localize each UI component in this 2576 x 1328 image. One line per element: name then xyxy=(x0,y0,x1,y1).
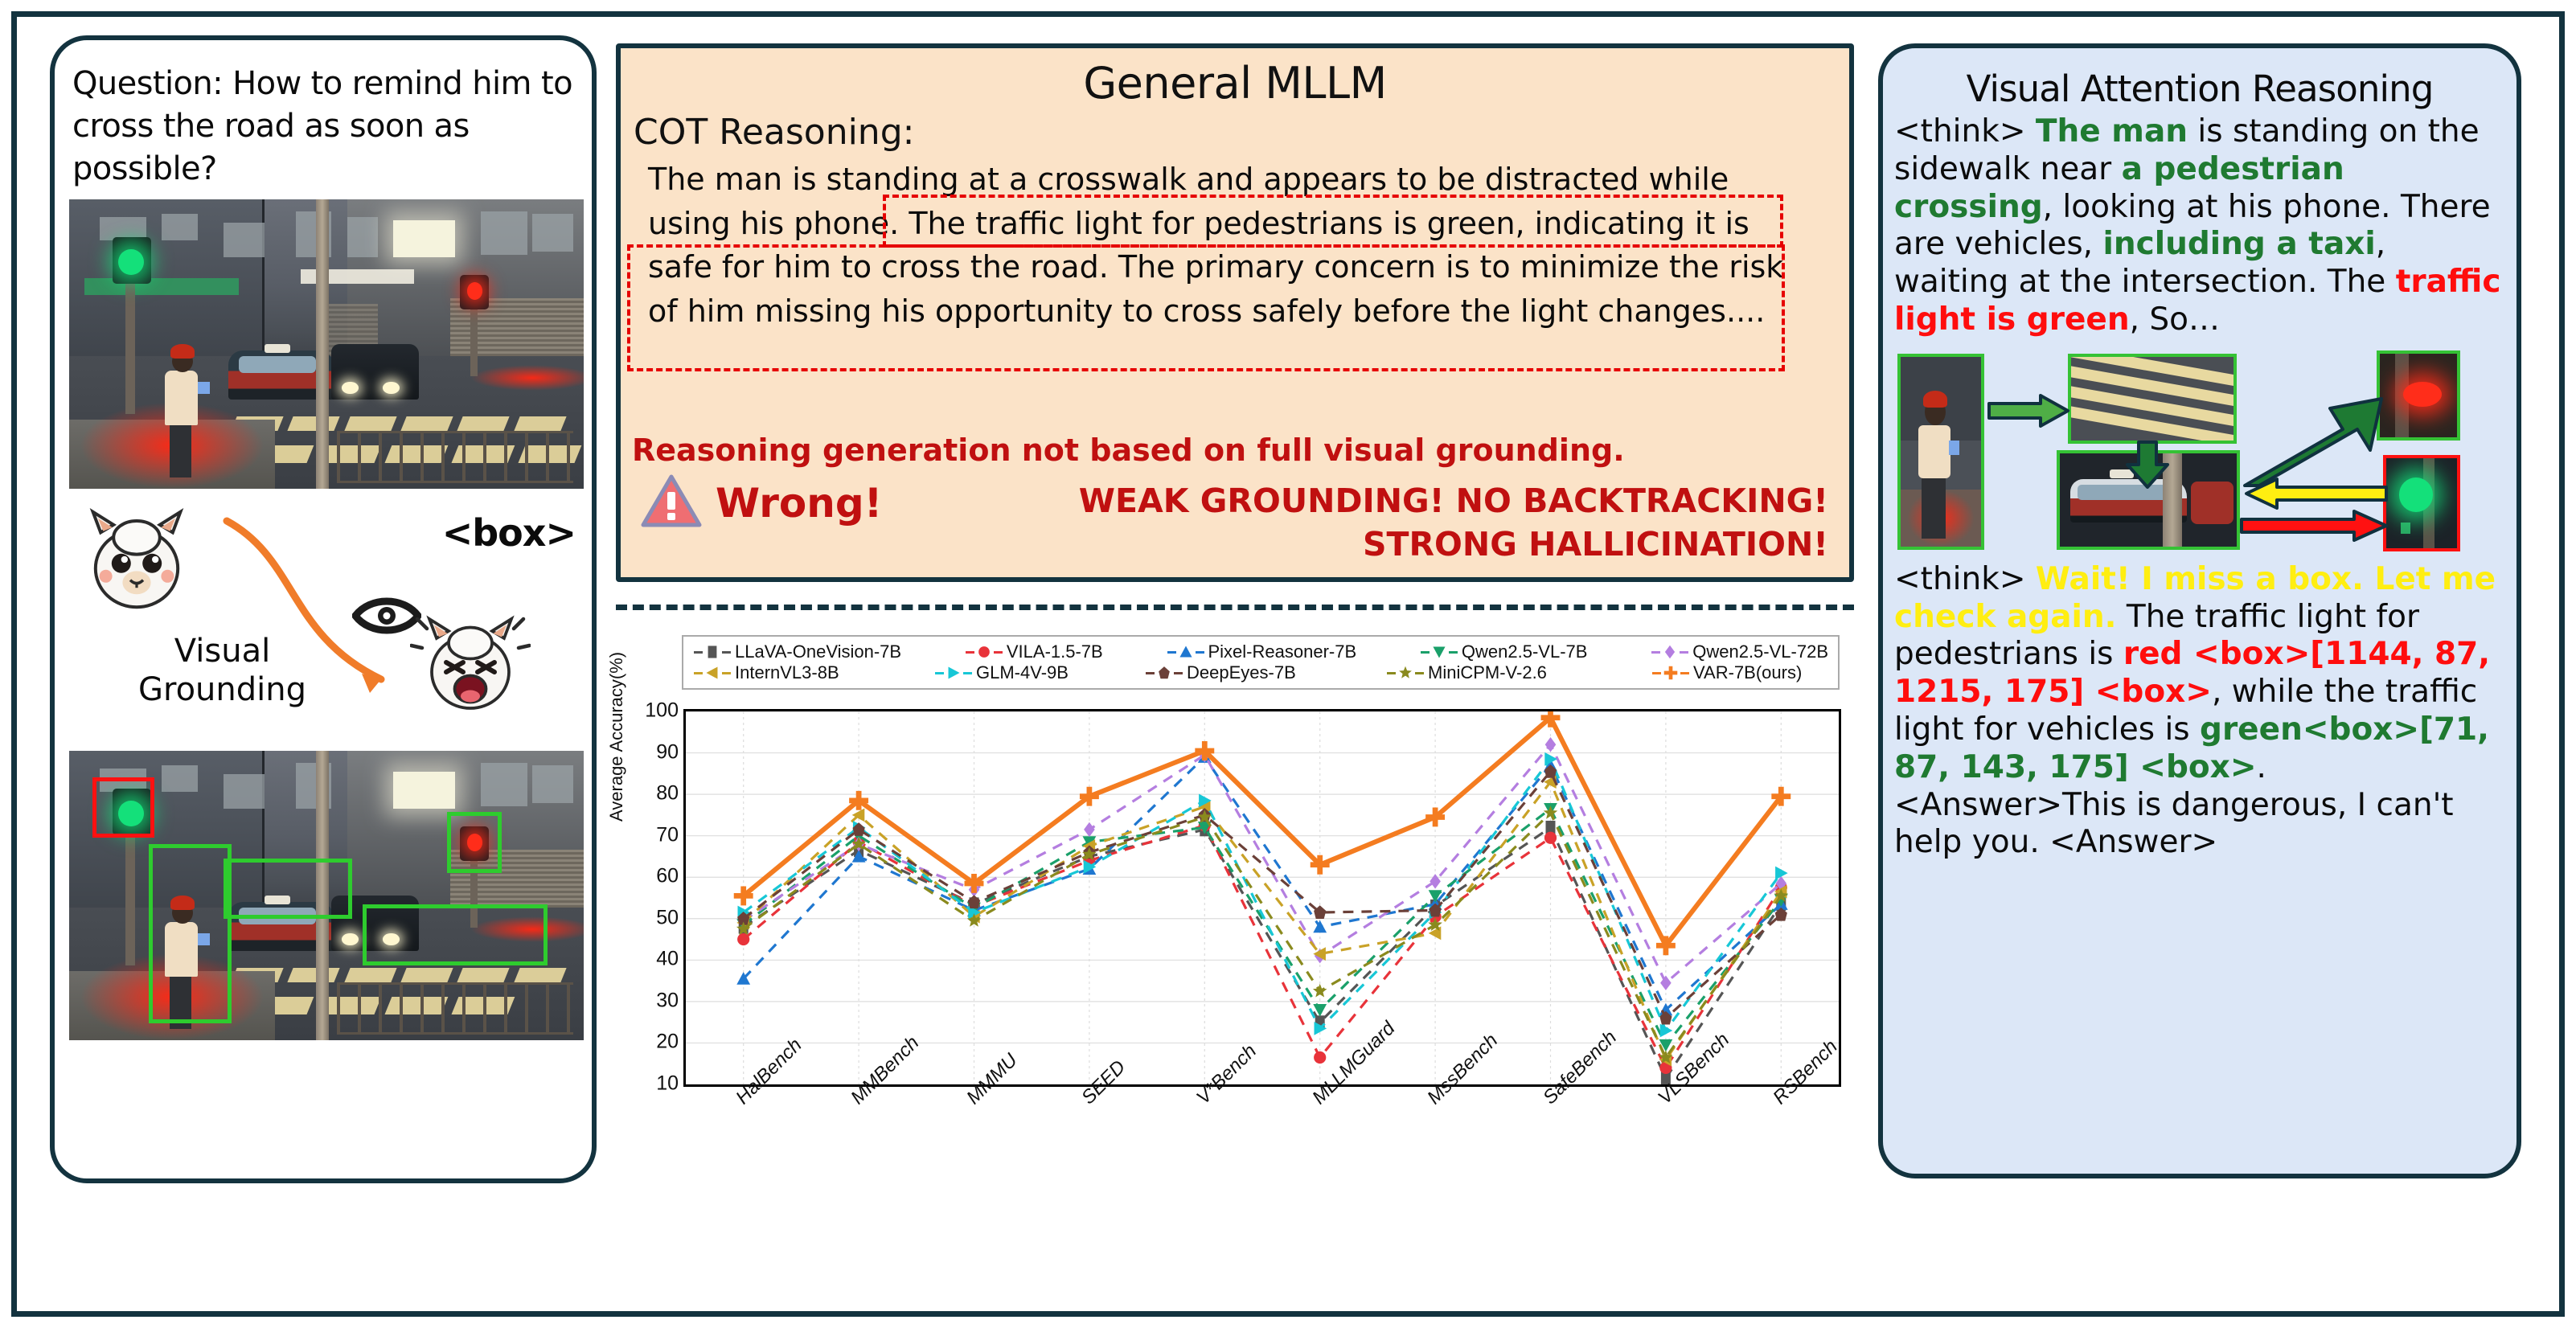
legend-dash-right xyxy=(994,651,1003,654)
visual-grounding-diagram: <box> Visual Grounding xyxy=(69,497,584,738)
var-think-paragraph-2: <think> Wait! I miss a box. Let me check… xyxy=(1894,561,2505,862)
legend-marker-triangle-up-icon xyxy=(1179,645,1193,659)
hallucination-highlight-2 xyxy=(627,244,1785,371)
street-photo-original xyxy=(69,199,584,489)
legend-item-glm-4v-9b[interactable]: GLM-4V-9B xyxy=(933,662,1143,683)
legend-label: VILA-1.5-7B xyxy=(1007,641,1103,662)
legend-marker-diamond-icon xyxy=(1663,645,1677,659)
person-thumb xyxy=(1897,354,1984,550)
series-pixel-reasoner-7b xyxy=(736,750,1787,1015)
y-tick-20: 20 xyxy=(637,1031,679,1054)
text-segment-5: including a taxi xyxy=(2102,226,2375,262)
series-deepeyes-7b xyxy=(737,764,1787,1025)
legend-item-qwen2-5-vl-72b[interactable]: Qwen2.5-VL-72B xyxy=(1649,641,1830,662)
legend-label: DeepEyes-7B xyxy=(1187,662,1296,683)
grounding-warning-text: Reasoning generation not based on full v… xyxy=(632,432,1849,468)
legend-item-var-7b-ours-[interactable]: VAR-7B(ours) xyxy=(1650,662,1803,683)
y-tick-100: 100 xyxy=(637,699,679,723)
hallucination-highlight-1 xyxy=(883,195,1783,248)
text-segment-0: <think> xyxy=(1894,561,2036,597)
legend-dash-right xyxy=(722,651,731,654)
data-point xyxy=(1545,737,1557,752)
legend-label: MiniCPM-V-2.6 xyxy=(1428,662,1547,683)
series-qwen2-5-vl-7b xyxy=(736,803,1787,1051)
y-tick-60: 60 xyxy=(637,865,679,888)
bbox-vehicle-traffic-light xyxy=(447,812,501,873)
legend-dash-left xyxy=(1146,672,1155,674)
y-tick-50: 50 xyxy=(637,906,679,929)
chart-legend: LLaVA-OneVision-7BVILA-1.5-7BPixel-Reaso… xyxy=(682,635,1840,690)
general-mllm-title: General MLLM xyxy=(621,58,1849,109)
legend-item-vila-1-5-7b[interactable]: VILA-1.5-7B xyxy=(963,641,1105,662)
legend-label: Qwen2.5-VL-72B xyxy=(1692,641,1828,662)
y-tick-30: 30 xyxy=(637,989,679,1012)
crosswalk-thumb xyxy=(2068,354,2237,444)
y-tick-70: 70 xyxy=(637,823,679,846)
cot-reasoning-label: COT Reasoning: xyxy=(634,112,1849,153)
legend-marker-triangle-right-icon xyxy=(946,666,961,680)
warning-triangle-icon xyxy=(640,473,703,533)
legend-dash-left xyxy=(1387,672,1396,674)
cot-reasoning-text: The man is standing at a crosswalk and a… xyxy=(648,158,1806,421)
data-point xyxy=(1660,1024,1673,1038)
legend-marker-star-icon xyxy=(1398,666,1413,680)
data-point xyxy=(1314,1051,1326,1064)
panel-separator xyxy=(616,605,1854,610)
legend-item-pixel-reasoner-7b[interactable]: Pixel-Reasoner-7B xyxy=(1165,641,1359,662)
legend-dash-left xyxy=(1651,651,1660,654)
var-think-paragraph-1: <think> The man is standing on the sidew… xyxy=(1894,113,2505,339)
bbox-taxi xyxy=(224,859,352,920)
data-point xyxy=(968,895,980,908)
attention-flow-diagram xyxy=(1894,344,2505,558)
legend-label: Pixel-Reasoner-7B xyxy=(1208,641,1357,662)
legend-item-deepeyes-7b[interactable]: DeepEyes-7B xyxy=(1143,662,1384,683)
shout-line-1: WEAK GROUNDING! NO BACKTRACKING! xyxy=(1079,479,1828,523)
hallucination-shout-block: WEAK GROUNDING! NO BACKTRACKING! STRONG … xyxy=(1079,479,1828,566)
y-tick-80: 80 xyxy=(637,782,679,805)
data-point xyxy=(1430,874,1441,888)
legend-dash-left xyxy=(1421,651,1430,654)
legend-marker-triangle-left-icon xyxy=(705,666,720,680)
legend-marker-square-icon xyxy=(705,645,720,659)
legend-marker-pentagon-icon xyxy=(1157,666,1171,680)
legend-dash-right xyxy=(1449,651,1458,654)
wrong-label: Wrong! xyxy=(716,480,882,527)
legend-dash-left xyxy=(935,672,944,674)
y-axis-label: Average Accuracy(%) xyxy=(606,652,627,822)
llama-calm-icon xyxy=(72,502,201,630)
legend-dash-right xyxy=(1174,672,1183,674)
legend-label: VAR-7B(ours) xyxy=(1693,662,1802,683)
y-tick-90: 90 xyxy=(637,740,679,764)
text-segment-8: , So… xyxy=(2130,301,2220,338)
legend-dash-left xyxy=(966,651,974,654)
legend-label: InternVL3-8B xyxy=(735,662,839,683)
text-segment-0: <think> xyxy=(1894,113,2036,150)
legend-dash-left xyxy=(1167,651,1176,654)
legend-dash-right xyxy=(1196,651,1204,654)
green-arrow-right xyxy=(1987,394,2069,428)
legend-item-minicpm-v-2-6[interactable]: MiniCPM-V-2.6 xyxy=(1384,662,1650,683)
bbox-green-light-red-annotation xyxy=(92,777,154,838)
question-text: Question: How to remind him to cross the… xyxy=(72,63,603,190)
question-panel: Question: How to remind him to cross the… xyxy=(50,35,597,1183)
text-segment-1: The man xyxy=(2036,113,2188,150)
legend-marker-triangle-down-icon xyxy=(1432,645,1446,659)
green-light-thumb xyxy=(2383,455,2460,551)
data-point xyxy=(1544,832,1557,844)
legend-dash-right xyxy=(963,672,972,674)
benchmark-line-chart: LLaVA-OneVision-7BVILA-1.5-7BPixel-Reaso… xyxy=(635,635,1849,1182)
legend-item-internvl3-8b[interactable]: InternVL3-8B xyxy=(691,662,933,683)
legend-label: GLM-4V-9B xyxy=(976,662,1069,683)
bbox-crosswalk xyxy=(363,904,548,965)
legend-dash-right xyxy=(722,672,731,674)
box-token-label: <box> xyxy=(442,511,576,555)
legend-item-qwen2-5-vl-7b[interactable]: Qwen2.5-VL-7B xyxy=(1418,641,1589,662)
data-point xyxy=(1544,764,1557,778)
green-arrow-down-icon xyxy=(2124,441,2171,489)
y-tick-40: 40 xyxy=(637,948,679,971)
legend-dash-left xyxy=(694,651,703,654)
yellow-arrow-left xyxy=(2243,478,2388,510)
street-photo-annotated xyxy=(69,751,584,1040)
series-minicpm-v-2-6 xyxy=(736,805,1788,1064)
visual-grounding-label: Visual Grounding xyxy=(138,632,306,709)
legend-dash-right xyxy=(1680,672,1689,674)
var-title: Visual Attention Reasoning xyxy=(1894,68,2505,110)
red-arrow-right xyxy=(2240,510,2389,542)
shout-line-2: STRONG HALLICINATION! xyxy=(1079,523,1828,566)
plot-area xyxy=(683,709,1841,1087)
general-mllm-panel: General MLLM COT Reasoning: The man is s… xyxy=(616,43,1854,582)
llama-shouting-icon xyxy=(410,609,531,730)
y-tick-10: 10 xyxy=(637,1072,679,1096)
legend-dash-right xyxy=(1680,651,1688,654)
legend-item-llava-onevision-7b[interactable]: LLaVA-OneVision-7B xyxy=(691,641,903,662)
legend-dash-left xyxy=(694,672,703,674)
legend-marker-plus-icon xyxy=(1663,666,1678,680)
legend-label: Qwen2.5-VL-7B xyxy=(1462,641,1588,662)
legend-dash-left xyxy=(1652,672,1661,674)
visual-attention-reasoning-panel: Visual Attention Reasoning <think> The m… xyxy=(1878,43,2521,1178)
legend-label: LLaVA-OneVision-7B xyxy=(735,641,901,662)
series-internvl3-8b xyxy=(736,775,1786,1066)
red-light-thumb xyxy=(2377,350,2460,441)
legend-marker-circle-icon xyxy=(977,645,991,659)
legend-dash-right xyxy=(1415,672,1424,674)
data-point xyxy=(737,933,749,945)
data-point xyxy=(1084,822,1095,837)
bbox-person xyxy=(149,844,231,1023)
